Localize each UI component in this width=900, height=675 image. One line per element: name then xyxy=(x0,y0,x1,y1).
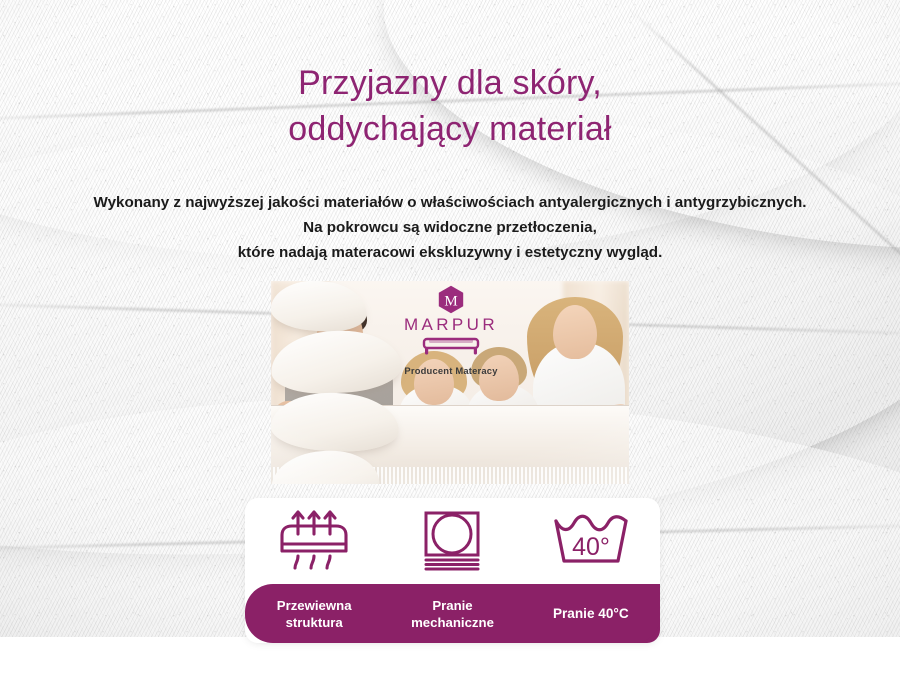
feature-icon-cell-breathable xyxy=(245,508,383,574)
breathable-mattress-airflow-icon xyxy=(268,508,360,574)
feature-label-machine-wash: Pranie mechaniczne xyxy=(383,597,521,631)
content-layer: Przyjazny dla skóry, oddychający materia… xyxy=(0,0,900,675)
washing-machine-icon xyxy=(416,508,488,574)
hexagon-monogram-icon: M xyxy=(438,285,464,314)
description-text: Wykonany z najwyższej jakości materiałów… xyxy=(0,190,900,265)
svg-text:M: M xyxy=(444,293,457,309)
feature-label-breathable: Przewiewna struktura xyxy=(245,597,383,631)
feature-icon-cell-wash-40: 40° xyxy=(522,511,660,571)
logo-tagline: Producent Materacy xyxy=(389,365,513,376)
feature-card: 40° Przewiewna struktura Pranie mechanic… xyxy=(245,498,660,643)
feature-icon-row: 40° xyxy=(245,498,660,584)
logo-wordmark: MARPUR xyxy=(389,315,513,335)
feature-icon-cell-machine-wash xyxy=(383,508,521,574)
family-photo: M MARPUR Producent Materacy xyxy=(271,281,629,484)
page-title: Przyjazny dla skóry, oddychający materia… xyxy=(0,60,900,152)
feature-label-wash-40: Pranie 40°C xyxy=(522,605,660,622)
marpur-logo: M MARPUR Producent Materacy xyxy=(389,285,513,376)
feature-label-bar: Przewiewna struktura Pranie mechaniczne … xyxy=(245,584,660,643)
wash-temperature-text: 40° xyxy=(572,533,610,561)
wash-tub-40-degrees-icon: 40° xyxy=(548,511,634,571)
bed-icon xyxy=(420,336,482,356)
